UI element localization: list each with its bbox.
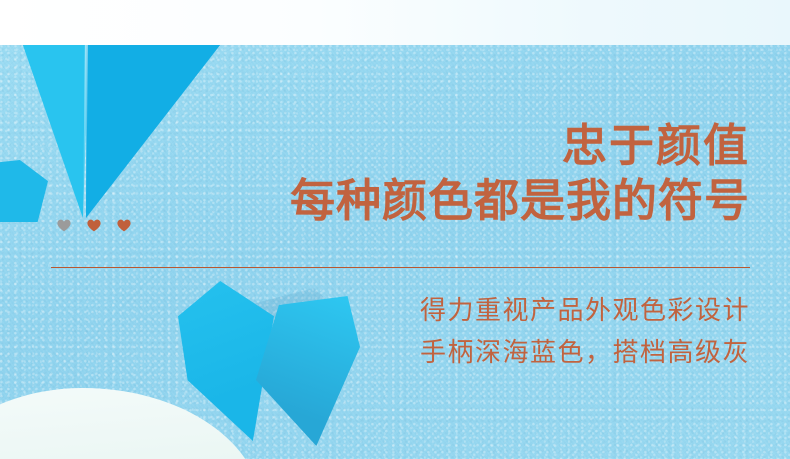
headline-line-2: 每种颜色都是我的符号	[120, 173, 750, 228]
horizontal-divider	[51, 267, 750, 268]
subtitle-line-2: 手柄深海蓝色，搭档高级灰	[240, 331, 750, 373]
top-white-band	[0, 0, 790, 45]
product-banner: 忠于颜值 每种颜色都是我的符号 得力重视产品外观色彩设计 手柄深海蓝色，搭档高级…	[0, 0, 790, 459]
subtitle-block: 得力重视产品外观色彩设计 手柄深海蓝色，搭档高级灰	[240, 289, 750, 373]
subtitle-line-1: 得力重视产品外观色彩设计	[240, 289, 750, 331]
heart-icon-muted	[57, 219, 71, 232]
heart-icon-accent-1	[87, 219, 101, 232]
headline-line-1: 忠于颜值	[120, 118, 750, 173]
headline-block: 忠于颜值 每种颜色都是我的符号	[120, 118, 750, 228]
